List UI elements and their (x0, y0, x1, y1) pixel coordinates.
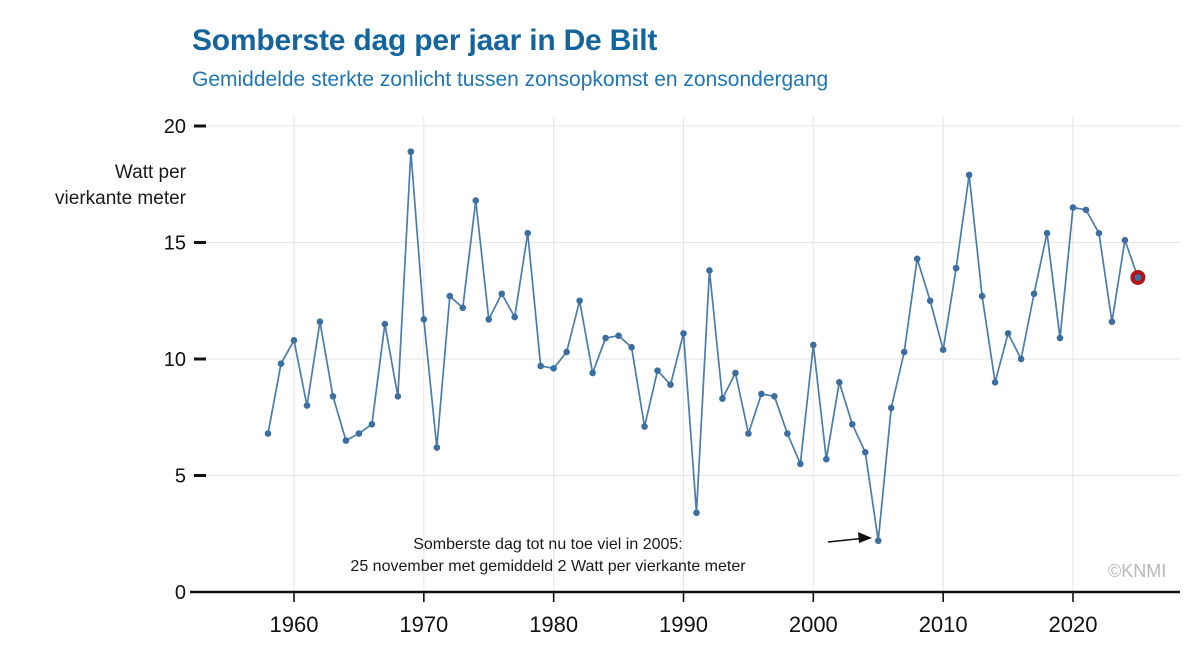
data-point (589, 370, 596, 377)
data-point (927, 297, 934, 304)
data-point (317, 318, 324, 325)
x-tick-label: 2000 (789, 612, 838, 637)
data-point (459, 304, 466, 311)
data-point (395, 393, 402, 400)
data-point (654, 367, 661, 374)
data-point (641, 423, 648, 430)
data-point (823, 456, 830, 463)
data-point (953, 265, 960, 272)
data-point (498, 290, 505, 297)
data-point (706, 267, 713, 274)
data-point (1109, 318, 1116, 325)
data-point (797, 461, 804, 468)
data-point (1083, 207, 1090, 214)
data-point (914, 256, 921, 263)
data-point (693, 509, 700, 516)
annotation-text: Somberste dag tot nu toe viel in 2005: 2… (268, 534, 828, 578)
data-point (1096, 230, 1103, 237)
y-axis-ticks: 05101520 (164, 116, 206, 604)
data-point (563, 349, 570, 356)
annotation-line1: Somberste dag tot nu toe viel in 2005: (413, 536, 683, 553)
data-point (1018, 356, 1025, 363)
data-point (849, 421, 856, 428)
data-point (1044, 230, 1051, 237)
data-points (265, 148, 1141, 544)
data-point (524, 230, 531, 237)
y-tick-label: 5 (175, 466, 186, 488)
data-point (576, 297, 583, 304)
data-point (979, 293, 986, 300)
data-point (784, 430, 791, 437)
data-point (732, 370, 739, 377)
data-point (511, 314, 518, 321)
data-point (343, 437, 350, 444)
data-point (330, 393, 337, 400)
data-point (875, 537, 882, 544)
data-point (356, 430, 363, 437)
data-point (836, 379, 843, 386)
x-tick-label: 2020 (1049, 612, 1098, 637)
data-point (602, 335, 609, 342)
highlight-core (1135, 274, 1142, 281)
annotation-arrow (828, 532, 872, 543)
x-tick-label: 2010 (919, 612, 968, 637)
data-point (550, 365, 557, 372)
data-point (628, 344, 635, 351)
data-point (1031, 290, 1038, 297)
y-tick-label: 20 (164, 116, 186, 138)
data-point (382, 321, 389, 328)
data-point (1070, 204, 1077, 211)
data-point (810, 342, 817, 349)
y-tick-label: 15 (164, 233, 186, 255)
y-tick-label: 10 (164, 349, 186, 371)
data-point (758, 391, 765, 398)
data-point (421, 316, 428, 323)
data-point (771, 393, 778, 400)
data-point (940, 346, 947, 353)
data-point (888, 405, 895, 412)
x-axis-ticks: 1960197019801990200020102020 (270, 592, 1098, 637)
highlight-data-point[interactable] (1130, 270, 1145, 285)
data-point (1005, 330, 1012, 337)
x-tick-label: 1960 (270, 612, 319, 637)
data-point (485, 316, 492, 323)
data-point (992, 379, 999, 386)
data-point (667, 381, 674, 388)
data-point (265, 430, 272, 437)
data-point (1122, 237, 1129, 244)
y-tick-label: 0 (175, 582, 186, 604)
data-point (447, 293, 454, 300)
data-point (304, 402, 311, 409)
data-point (862, 449, 869, 456)
x-tick-label: 1970 (399, 612, 448, 637)
data-point (1057, 335, 1064, 342)
data-point (472, 197, 479, 204)
data-point (745, 430, 752, 437)
data-point (537, 363, 544, 370)
knmi-credit: ©KNMI (1108, 561, 1166, 582)
annotation-line2: 25 november met gemiddeld 2 Watt per vie… (268, 556, 828, 578)
data-point (434, 444, 441, 451)
x-tick-label: 1980 (529, 612, 578, 637)
data-point (615, 332, 622, 339)
data-point (369, 421, 376, 428)
data-point (680, 330, 687, 337)
data-line (268, 152, 1138, 541)
data-point (719, 395, 726, 402)
data-point (291, 337, 298, 344)
data-point (278, 360, 285, 367)
data-point (408, 148, 415, 155)
data-point (901, 349, 908, 356)
chart-page: Somberste dag per jaar in De Bilt Gemidd… (0, 0, 1200, 660)
data-point (966, 172, 973, 179)
x-tick-label: 1990 (659, 612, 708, 637)
